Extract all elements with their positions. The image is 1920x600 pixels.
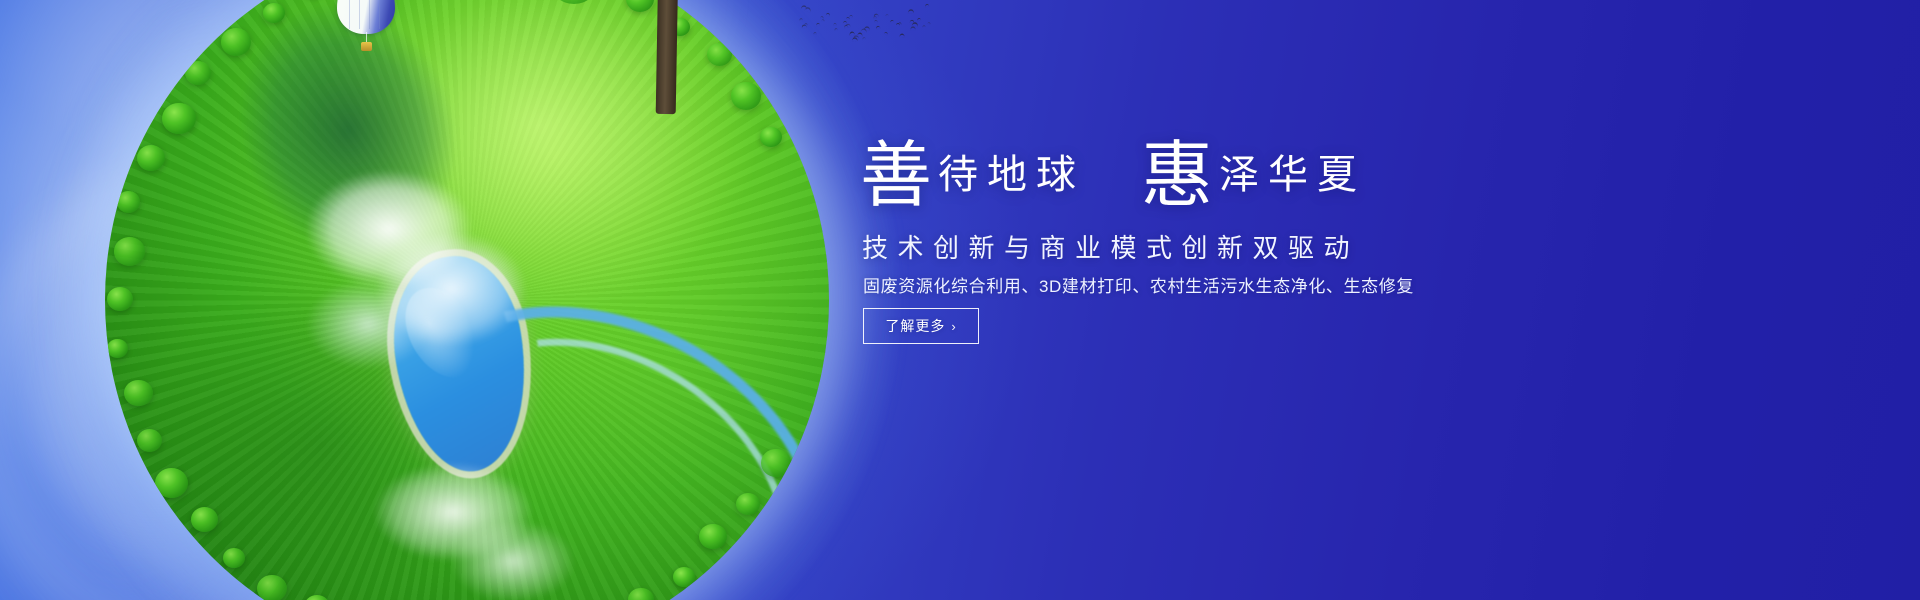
headline-char-shan: 善 — [860, 136, 932, 216]
hero-subtitle: 技术创新与商业模式创新双驱动 — [862, 228, 1359, 265]
learn-more-button[interactable]: 了解更多 › — [863, 308, 979, 344]
bird — [846, 24, 851, 28]
bush — [137, 429, 162, 452]
bush — [221, 28, 251, 56]
page-title: 善待地球惠泽华夏 — [860, 140, 1366, 212]
bird — [816, 23, 821, 27]
hero-description: 固废资源化综合利用、3D建材打印、农村生活污水生态净化、生态修复 — [863, 272, 1414, 297]
cloud-patch-upper — [291, 144, 549, 394]
bush — [223, 548, 245, 568]
bush — [107, 287, 133, 311]
large-tree — [505, 0, 835, 118]
bush — [257, 575, 287, 600]
headline-rest-daidiqiu: 待地球 — [938, 152, 1085, 197]
bush — [124, 380, 153, 407]
bush — [736, 493, 760, 515]
bird — [804, 6, 811, 12]
bush — [761, 449, 791, 477]
bush — [117, 191, 140, 212]
balloon-envelope — [337, 0, 395, 34]
bush — [162, 103, 196, 134]
bird — [849, 15, 853, 18]
balloon-basket — [361, 42, 372, 51]
headline-char-hui: 惠 — [1141, 136, 1213, 216]
headline-rest-zehuaxia: 泽华夏 — [1219, 152, 1366, 197]
learn-more-label: 了解更多 — [885, 316, 945, 336]
bird — [821, 19, 825, 22]
bird — [814, 32, 818, 35]
bird — [804, 23, 807, 26]
bird — [833, 23, 837, 26]
chevron-right-icon: › — [951, 320, 956, 333]
hot-air-balloon-icon — [337, 0, 395, 58]
hero-content: 善待地球惠泽华夏 技术创新与商业模式创新双驱动 固废资源化综合利用、3D建材打印… — [858, 0, 1858, 600]
bush — [107, 339, 128, 358]
cloud-patch-lower — [343, 436, 593, 600]
hero-banner: 善待地球惠泽华夏 技术创新与商业模式创新双驱动 固废资源化综合利用、3D建材打印… — [0, 0, 1920, 600]
bird — [799, 18, 803, 21]
bird — [834, 28, 838, 31]
bush — [137, 145, 165, 171]
globe-artwork — [105, 0, 829, 600]
tree-trunk — [656, 0, 679, 114]
bush — [191, 507, 218, 532]
bird — [826, 13, 831, 17]
bush — [114, 237, 145, 266]
tree-crown-blob — [551, 0, 597, 4]
